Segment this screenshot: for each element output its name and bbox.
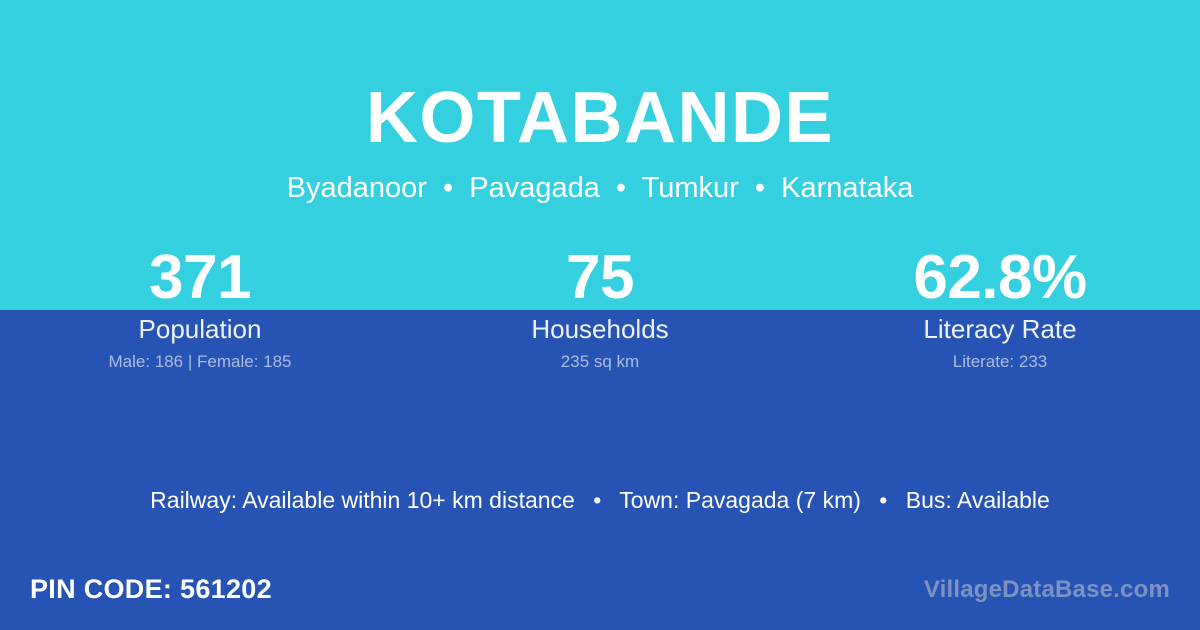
stat-subtext: 235 sq km xyxy=(400,352,800,372)
page-title: KOTABANDE xyxy=(0,0,1200,154)
breadcrumb-item-1: Pavagada xyxy=(469,172,600,204)
infrastructure-separator: • xyxy=(581,487,613,513)
village-info-card: KOTABANDE Byadanoor • Pavagada • Tumkur … xyxy=(0,0,1200,630)
hero-section: KOTABANDE Byadanoor • Pavagada • Tumkur … xyxy=(0,0,1200,203)
infrastructure-separator: • xyxy=(867,487,899,513)
infrastructure-town: Town: Pavagada (7 km) xyxy=(619,487,861,513)
stat-label: Population xyxy=(0,314,400,344)
stat-label: Households xyxy=(400,314,800,344)
stat-population: 371 Population Male: 186 | Female: 185 xyxy=(0,246,400,372)
infrastructure-bus: Bus: Available xyxy=(906,487,1050,513)
breadcrumb-item-3: Karnataka xyxy=(781,172,913,204)
stat-households: 75 Households 235 sq km xyxy=(400,246,800,372)
breadcrumb: Byadanoor • Pavagada • Tumkur • Karnatak… xyxy=(0,154,1200,203)
stat-value: 371 xyxy=(0,246,400,310)
brand-watermark: VillageDataBase.com xyxy=(924,574,1170,606)
stat-value: 62.8% xyxy=(800,246,1200,310)
footer: PIN CODE: 561202 VillageDataBase.com xyxy=(0,572,1200,630)
stat-value: 75 xyxy=(400,246,800,310)
breadcrumb-separator: • xyxy=(608,172,634,204)
stat-label: Literacy Rate xyxy=(800,314,1200,344)
pin-code: PIN CODE: 561202 xyxy=(30,572,272,606)
stat-subtext: Literate: 233 xyxy=(800,352,1200,372)
stat-literacy-rate: 62.8% Literacy Rate Literate: 233 xyxy=(800,246,1200,372)
breadcrumb-item-0: Byadanoor xyxy=(287,172,427,204)
stat-subtext: Male: 186 | Female: 185 xyxy=(0,352,400,372)
breadcrumb-item-2: Tumkur xyxy=(642,172,739,204)
breadcrumb-separator: • xyxy=(435,172,461,204)
breadcrumb-separator: • xyxy=(747,172,773,204)
infrastructure-row: Railway: Available within 10+ km distanc… xyxy=(0,485,1200,515)
stats-row: 371 Population Male: 186 | Female: 185 7… xyxy=(0,246,1200,372)
infrastructure-railway: Railway: Available within 10+ km distanc… xyxy=(150,487,575,513)
